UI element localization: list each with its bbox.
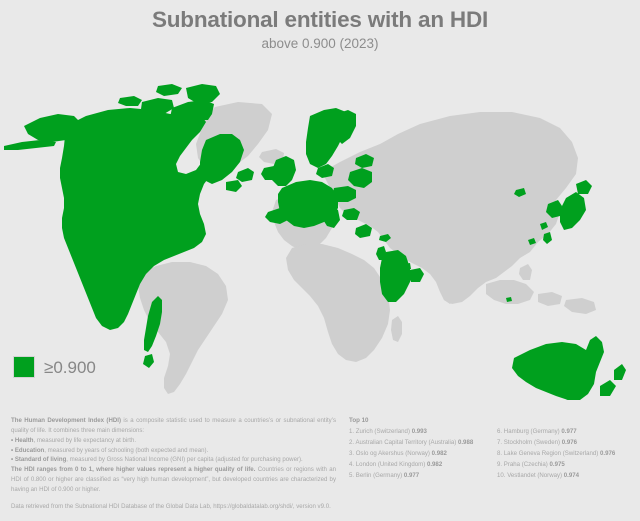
world-map-svg xyxy=(0,52,640,400)
top10-item: 10. Vestlandet (Norway) 0.974 xyxy=(497,471,637,482)
top10-value: 0.982 xyxy=(427,461,442,468)
top10-name: Vestlandet (Norway) xyxy=(507,472,562,479)
page-subtitle: above 0.900 (2023) xyxy=(0,36,640,52)
notes-paragraph-2: The HDI ranges from 0 to 1, where higher… xyxy=(11,465,336,495)
top10-rank: 4. xyxy=(349,461,354,468)
top10-rank: 6. xyxy=(497,428,502,435)
notes-spacer xyxy=(11,495,336,502)
top10-rank: 9. xyxy=(497,461,502,468)
header: Subnational entities with an HDI above 0… xyxy=(0,0,640,51)
top10-name: Hamburg (Germany) xyxy=(504,428,560,435)
top10-name: Berlin (Germany) xyxy=(356,472,402,479)
legend-label: ≥0.900 xyxy=(44,359,96,376)
infographic-page: Subnational entities with an HDI above 0… xyxy=(0,0,640,521)
top10-item: 2. Australian Capital Territory (Austral… xyxy=(349,438,497,449)
notes-bullet-health: • Health, measured by life expectancy at… xyxy=(11,436,336,446)
region-austria-cz xyxy=(332,186,356,202)
top10-item: 6. Hamburg (Germany) 0.977 xyxy=(497,427,637,438)
top10-name: Stockholm (Sweden) xyxy=(504,439,560,446)
notes-paragraph-1: The Human Development Index (HDI) is a c… xyxy=(11,416,336,436)
top10-block: Top 10 1. Zurich (Switzerland) 0.993 2. … xyxy=(349,416,637,482)
top10-value: 0.974 xyxy=(564,472,579,479)
footer: The Human Development Index (HDI) is a c… xyxy=(0,410,640,521)
top10-item: 8. Lake Geneva Region (Switzerland) 0.97… xyxy=(497,449,637,460)
top10-rank: 1. xyxy=(349,428,354,435)
top10-rank: 2. xyxy=(349,439,354,446)
top10-value: 0.982 xyxy=(432,450,447,457)
world-map xyxy=(0,52,640,400)
notes-health-rest: , measured by life expectancy at birth. xyxy=(33,437,136,444)
top10-rank: 5. xyxy=(349,472,354,479)
top10-name: Praha (Czechia) xyxy=(504,461,548,468)
top10-value: 0.976 xyxy=(562,439,577,446)
top10-item: 9. Praha (Czechia) 0.975 xyxy=(497,460,637,471)
top10-value: 0.993 xyxy=(412,428,427,435)
top10-name: Zurich (Switzerland) xyxy=(356,428,410,435)
notes-range-term: The HDI ranges from 0 to 1, where higher… xyxy=(11,466,255,473)
top10-name: Lake Geneva Region (Switzerland) xyxy=(504,450,599,457)
top10-title: Top 10 xyxy=(349,416,637,426)
top10-column-right: 6. Hamburg (Germany) 0.977 7. Stockholm … xyxy=(497,427,637,481)
top10-value: 0.977 xyxy=(404,472,419,479)
top10-name: London (United Kingdom) xyxy=(356,461,425,468)
top10-item: 7. Stockholm (Sweden) 0.976 xyxy=(497,438,637,449)
notes-standard-rest: , measured by Gross National Income (GNI… xyxy=(66,456,302,463)
notes-health-term: • Health xyxy=(11,437,33,444)
top10-rank: 8. xyxy=(497,450,502,457)
notes-standard-term: • Standard of living xyxy=(11,456,66,463)
top10-value: 0.976 xyxy=(600,450,615,457)
legend-swatch-icon xyxy=(13,356,35,378)
top10-value: 0.977 xyxy=(561,428,576,435)
region-qatar xyxy=(404,263,411,270)
notes-block: The Human Development Index (HDI) is a c… xyxy=(11,416,336,512)
top10-item: 1. Zurich (Switzerland) 0.993 xyxy=(349,427,497,438)
notes-education-rest: , measured by years of schooling (both e… xyxy=(44,447,208,454)
top10-value: 0.975 xyxy=(550,461,565,468)
top10-item: 5. Berlin (Germany) 0.977 xyxy=(349,471,497,482)
notes-hdi-term: The Human Development Index (HDI) xyxy=(11,417,121,424)
top10-name: Australian Capital Territory (Australia) xyxy=(355,439,456,446)
top10-item: 4. London (United Kingdom) 0.982 xyxy=(349,460,497,471)
top10-item: 3. Oslo og Akershus (Norway) 0.982 xyxy=(349,449,497,460)
notes-bullet-standard-of-living: • Standard of living, measured by Gross … xyxy=(11,455,336,465)
top10-rank: 7. xyxy=(497,439,502,446)
notes-education-term: • Education xyxy=(11,447,44,454)
legend: ≥0.900 xyxy=(13,356,96,378)
top10-columns: 1. Zurich (Switzerland) 0.993 2. Austral… xyxy=(349,427,637,481)
notes-bullet-education: • Education, measured by years of school… xyxy=(11,446,336,456)
top10-value: 0.988 xyxy=(458,439,473,446)
top10-name: Oslo og Akershus (Norway) xyxy=(356,450,430,457)
notes-source: Data retrieved from the Subnational HDI … xyxy=(11,502,336,512)
top10-rank: 10. xyxy=(497,472,505,479)
page-title: Subnational entities with an HDI xyxy=(0,7,640,33)
top10-rank: 3. xyxy=(349,450,354,457)
top10-column-left: 1. Zurich (Switzerland) 0.993 2. Austral… xyxy=(349,427,497,481)
